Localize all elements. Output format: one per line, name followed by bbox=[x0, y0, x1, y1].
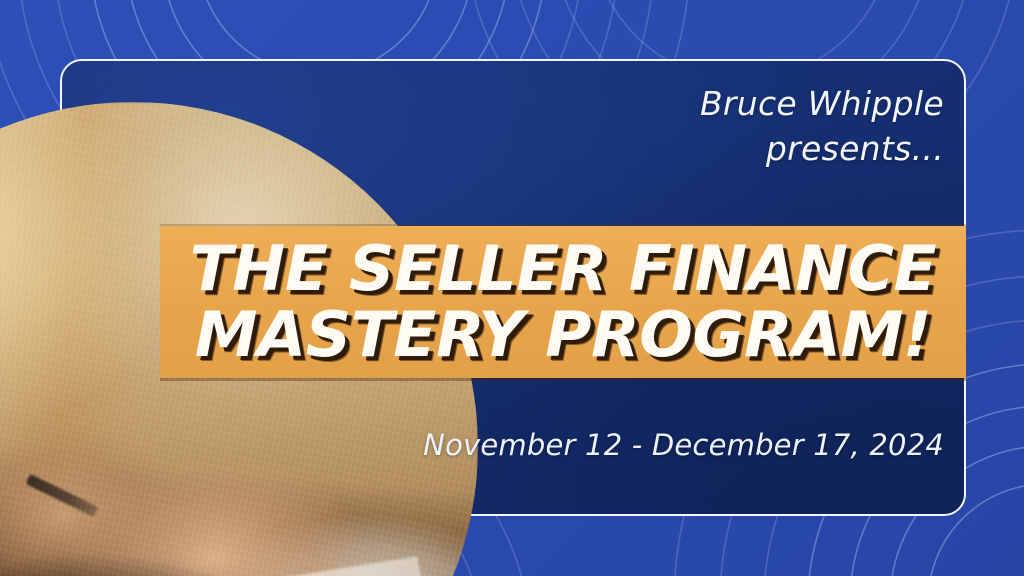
presenter-block: Bruce Whipple presents... bbox=[700, 82, 944, 171]
event-dates: November 12 - December 17, 2024 bbox=[423, 428, 944, 462]
title-band: THE SELLER FINANCE MASTERY PROGRAM! bbox=[160, 226, 966, 378]
title-line-2: MASTERY PROGRAM! bbox=[195, 303, 931, 367]
promo-slide: Bruce Whipple presents... THE SELLER FIN… bbox=[0, 0, 1024, 576]
title-line-1: THE SELLER FINANCE bbox=[190, 237, 936, 301]
presenter-name: Bruce Whipple bbox=[700, 84, 944, 123]
presenter-presents-label: presents... bbox=[700, 127, 944, 172]
